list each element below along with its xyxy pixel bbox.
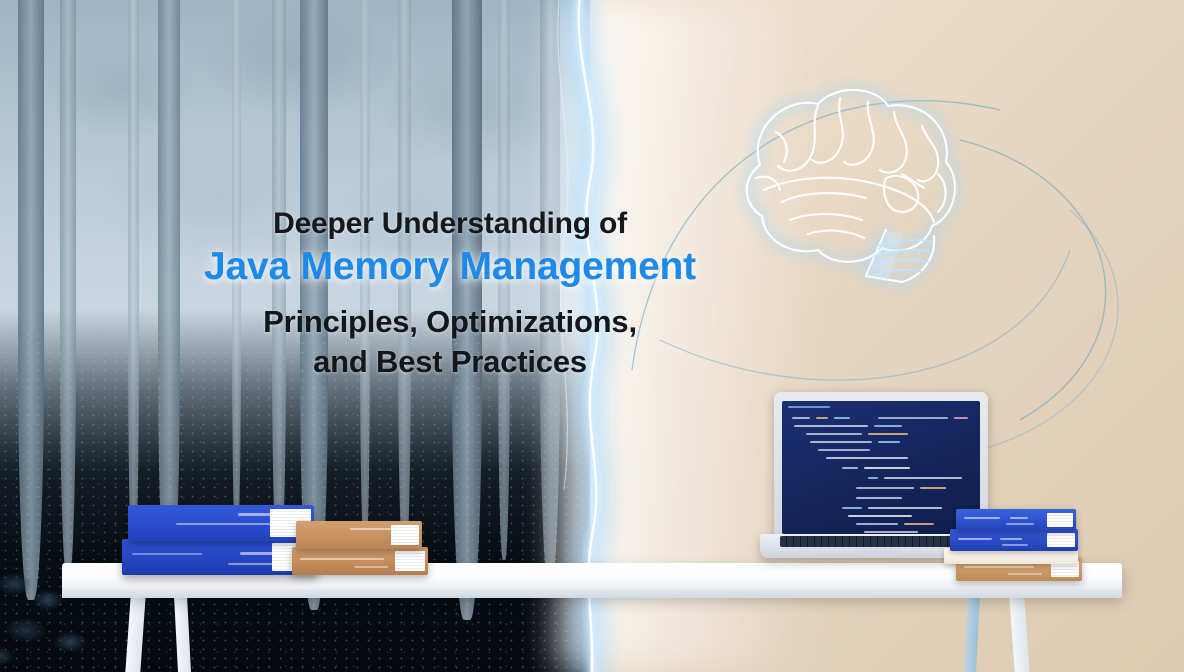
book-stack-icon	[292, 547, 428, 575]
subtitle-line-2: and Best Practices	[0, 342, 900, 382]
book-stack-icon	[296, 521, 422, 549]
subtitle-line-1: Principles, Optimizations,	[263, 304, 637, 339]
page-title: Java Memory Management	[0, 244, 900, 291]
book-stack-icon	[122, 539, 318, 575]
book-pages	[391, 525, 419, 545]
desk-edge	[62, 589, 1122, 598]
book-pages	[1047, 533, 1075, 547]
laptop-trackpad	[860, 550, 902, 555]
poster-subtitle: Principles, Optimizations, and Best Prac…	[0, 302, 900, 381]
poster-canvas: Deeper Understanding of Java Memory Mana…	[0, 0, 1184, 672]
book-stack-icon	[950, 529, 1078, 551]
book-pages	[395, 551, 425, 571]
laptop-screen	[782, 401, 980, 534]
book-stack-icon	[956, 509, 1076, 531]
title-eyebrow: Deeper Understanding of	[0, 206, 900, 241]
poster-title-block: Deeper Understanding of Java Memory Mana…	[0, 206, 900, 382]
book-stack-icon	[128, 505, 314, 541]
book-pages	[1047, 513, 1073, 527]
